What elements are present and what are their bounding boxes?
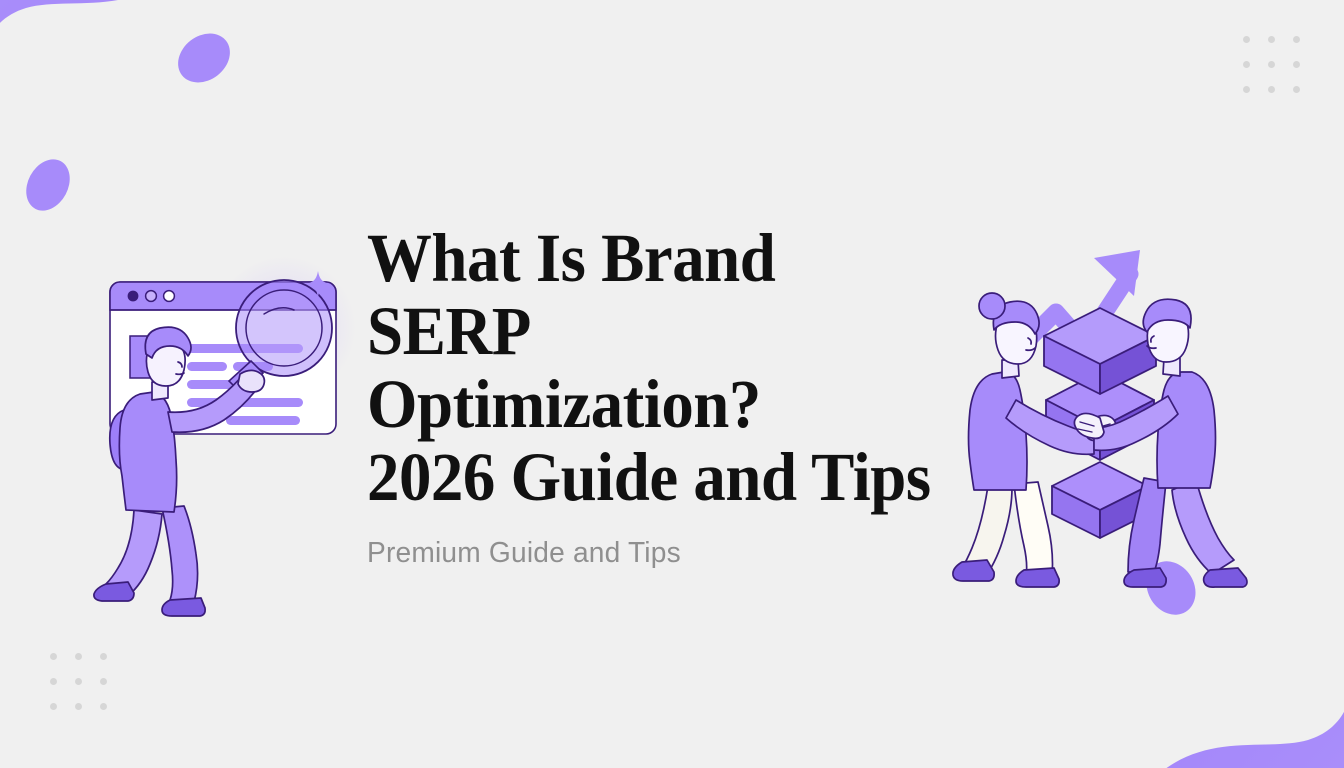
grid-dot [50, 703, 57, 710]
grid-dot [1243, 36, 1250, 43]
grid-dot [1268, 36, 1275, 43]
page-subtitle: Premium Guide and Tips [367, 536, 949, 570]
accent-ellipse-1 [168, 23, 239, 92]
grid-dot [75, 703, 82, 710]
grid-dot [50, 678, 57, 685]
grid-dot [1293, 61, 1300, 68]
window-dot-outline [164, 291, 175, 302]
dot-grid-bottom-left [50, 653, 107, 710]
window-dot-filled [128, 291, 139, 302]
page-title: What Is Brand SERP Optimization? 2026 Gu… [367, 222, 931, 514]
dot-grid-top-right [1243, 36, 1300, 93]
grid-dot [50, 653, 57, 660]
grid-dot [75, 678, 82, 685]
accent-ellipse-2 [18, 152, 79, 218]
grid-dot [1293, 36, 1300, 43]
person-searching-browser-illustration [88, 262, 360, 612]
grid-dot [1243, 86, 1250, 93]
grid-dot [100, 703, 107, 710]
grid-dot [75, 653, 82, 660]
grid-dot [100, 678, 107, 685]
window-dot-outline [146, 291, 157, 302]
blob-shape-top-left [0, 0, 270, 220]
grid-dot [1243, 61, 1250, 68]
hero-banner: What Is Brand SERP Optimization? 2026 Gu… [0, 0, 1344, 768]
grid-dot [100, 653, 107, 660]
grid-dot [1268, 61, 1275, 68]
hero-text-block: What Is Brand SERP Optimization? 2026 Gu… [367, 222, 967, 570]
grid-dot [1293, 86, 1300, 93]
team-stacking-blocks-illustration [944, 232, 1256, 604]
grid-dot [1268, 86, 1275, 93]
